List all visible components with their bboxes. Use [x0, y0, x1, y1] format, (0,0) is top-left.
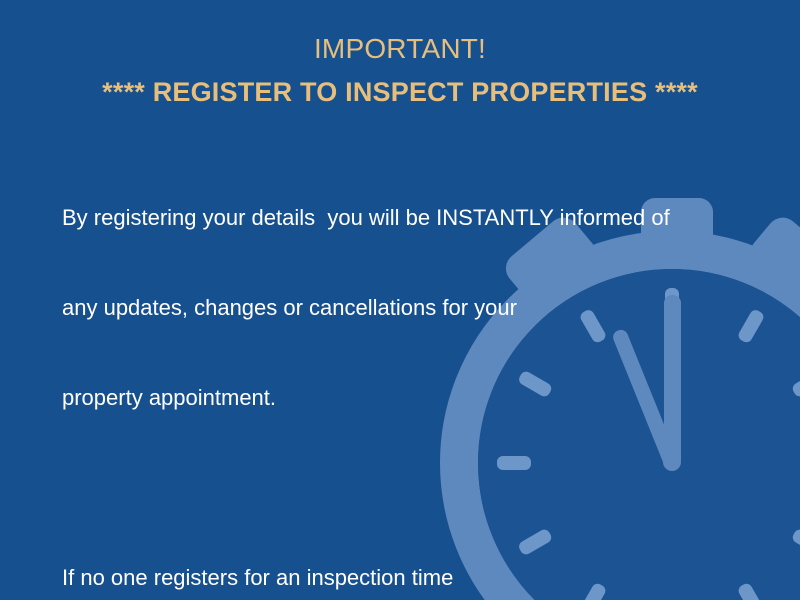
page-title-important: IMPORTANT!: [0, 30, 800, 68]
paragraph-no-registration-line-1: If no one registers for an inspection ti…: [62, 563, 712, 593]
paragraph-registering-line-2: any updates, changes or cancellations fo…: [62, 293, 712, 323]
body-text-block: By registering your details you will be …: [62, 143, 712, 600]
heading-group: IMPORTANT! **** REGISTER TO INSPECT PROP…: [0, 30, 800, 112]
slide-text-content: IMPORTANT! **** REGISTER TO INSPECT PROP…: [0, 0, 800, 600]
slide-canvas: IMPORTANT! **** REGISTER TO INSPECT PROP…: [0, 0, 800, 600]
paragraph-registering: By registering your details you will be …: [62, 143, 712, 473]
paragraph-registering-line-3: property appointment.: [62, 383, 712, 413]
paragraph-no-registration: If no one registers for an inspection ti…: [62, 503, 712, 600]
page-title-register: **** REGISTER TO INSPECT PROPERTIES ****: [0, 72, 800, 112]
paragraph-registering-line-1: By registering your details you will be …: [62, 203, 712, 233]
